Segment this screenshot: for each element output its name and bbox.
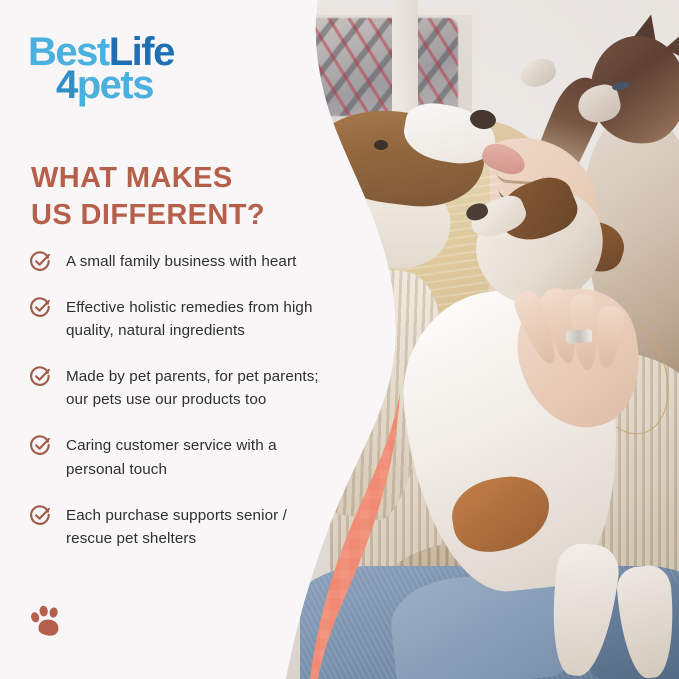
- benefits-list: A small family business with heart Effec…: [30, 250, 330, 573]
- check-circle-icon: [30, 366, 51, 387]
- check-circle-icon: [30, 435, 51, 456]
- title-line-one: WHAT MAKES: [31, 160, 265, 197]
- list-item-label: A small family business with heart: [66, 250, 296, 273]
- list-item: Effective holistic remedies from high qu…: [30, 296, 330, 342]
- list-item-label: Effective holistic remedies from high qu…: [66, 296, 330, 342]
- list-item-label: Caring customer service with a personal …: [66, 434, 330, 480]
- page-title: WHAT MAKES US DIFFERENT?: [31, 160, 265, 234]
- check-circle-icon: [30, 505, 51, 526]
- title-line-two: US DIFFERENT?: [31, 197, 265, 234]
- brand-logo[interactable]: BestLife 4pets: [28, 36, 174, 102]
- list-item: Each purchase supports senior / rescue p…: [30, 504, 330, 550]
- plaid-blanket: [308, 18, 458, 116]
- paw-print-icon: [82, 66, 95, 79]
- logo-text-pets: pets: [77, 63, 153, 107]
- promotional-infographic: BestLife 4pets WHAT MAKES US DIFFERENT? …: [0, 0, 679, 679]
- check-circle-icon: [30, 251, 51, 272]
- content-column: BestLife 4pets WHAT MAKES US DIFFERENT? …: [0, 0, 330, 679]
- list-item-label: Each purchase supports senior / rescue p…: [66, 504, 330, 550]
- logo-text-four: 4: [56, 63, 77, 107]
- licking-dog-eye: [374, 140, 388, 150]
- list-item-label: Made by pet parents, for pet parents; ou…: [66, 365, 330, 411]
- list-item: Caring customer service with a personal …: [30, 434, 330, 480]
- list-item: Made by pet parents, for pet parents; ou…: [30, 365, 330, 411]
- check-circle-icon: [30, 297, 51, 318]
- list-item: A small family business with heart: [30, 250, 330, 273]
- paw-print-icon: [28, 604, 66, 640]
